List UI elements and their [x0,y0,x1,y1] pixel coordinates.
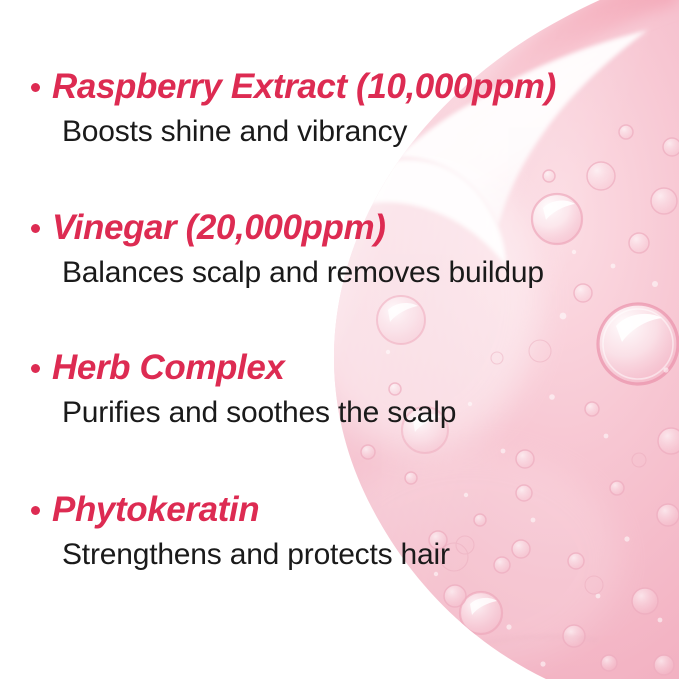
ingredient-title: Phytokeratin [52,489,259,531]
bullet-dot-icon [31,83,40,92]
bullet-heading-row: Raspberry Extract (10,000ppm) [0,66,620,108]
ingredient-description: Purifies and soothes the scalp [62,395,620,431]
infographic-canvas: Raspberry Extract (10,000ppm) Boosts shi… [0,0,679,679]
bullet-heading-row: Phytokeratin [0,489,620,531]
ingredient-description: Boosts shine and vibrancy [62,114,620,150]
bullet-dot-icon [31,506,40,515]
ingredient-item-raspberry-extract: Raspberry Extract (10,000ppm) Boosts shi… [0,66,620,150]
bullet-heading-row: Herb Complex [0,347,620,389]
ingredient-item-vinegar: Vinegar (20,000ppm) Balances scalp and r… [0,207,620,291]
ingredient-item-phytokeratin: Phytokeratin Strengthens and protects ha… [0,489,620,573]
ingredient-title: Herb Complex [52,347,284,389]
ingredient-description: Balances scalp and removes buildup [62,255,620,291]
bullet-heading-row: Vinegar (20,000ppm) [0,207,620,249]
bullet-dot-icon [31,364,40,373]
ingredient-description: Strengthens and protects hair [62,537,620,573]
bullet-dot-icon [31,224,40,233]
ingredient-item-herb-complex: Herb Complex Purifies and soothes the sc… [0,347,620,431]
ingredient-bullet-list: Raspberry Extract (10,000ppm) Boosts shi… [0,0,679,679]
ingredient-title: Raspberry Extract (10,000ppm) [52,66,556,108]
ingredient-title: Vinegar (20,000ppm) [52,207,385,249]
